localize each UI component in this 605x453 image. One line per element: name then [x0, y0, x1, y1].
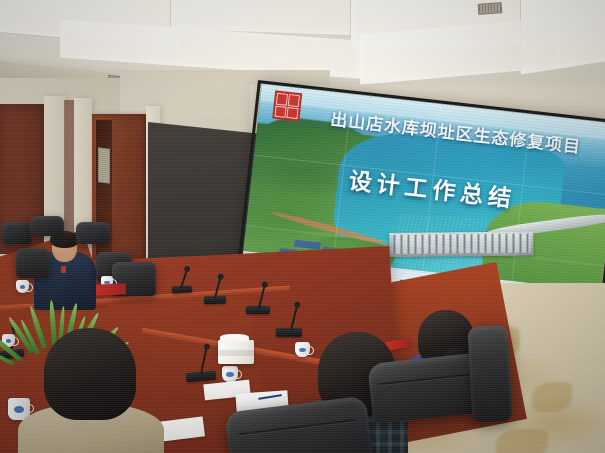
- mug-logo: [14, 406, 24, 413]
- tissue-box[interactable]: [218, 340, 254, 364]
- mug-logo: [20, 285, 26, 289]
- chair[interactable]: [30, 216, 64, 236]
- ceiling-vent-icon: [478, 2, 503, 15]
- slide-dam-piers: [393, 233, 530, 254]
- mug-logo: [6, 339, 12, 343]
- conference-room-scene: 出山店水库坝址区生态修复项目 设计工作总结 符 强 2019: [0, 0, 605, 453]
- chair-foreground[interactable]: [468, 325, 513, 423]
- microphone-base: [276, 328, 302, 337]
- mug[interactable]: [16, 280, 29, 293]
- mug-logo: [226, 372, 233, 377]
- carpet-motif: [532, 382, 572, 412]
- chair[interactable]: [2, 222, 32, 244]
- mug-logo: [299, 348, 306, 353]
- chair[interactable]: [76, 222, 110, 244]
- seal-icon: [273, 91, 303, 122]
- speaker-red-pin-icon: [61, 266, 66, 273]
- tissue-box-band: [218, 350, 254, 356]
- document-folder[interactable]: [96, 283, 127, 296]
- carpet-motif: [496, 429, 548, 453]
- tissue-sheet: [220, 334, 249, 343]
- wall-speaker-icon: [98, 147, 110, 183]
- chair[interactable]: [16, 248, 50, 278]
- attendee-front-left-head: [44, 328, 136, 420]
- mug[interactable]: [295, 342, 310, 357]
- mug[interactable]: [222, 366, 238, 382]
